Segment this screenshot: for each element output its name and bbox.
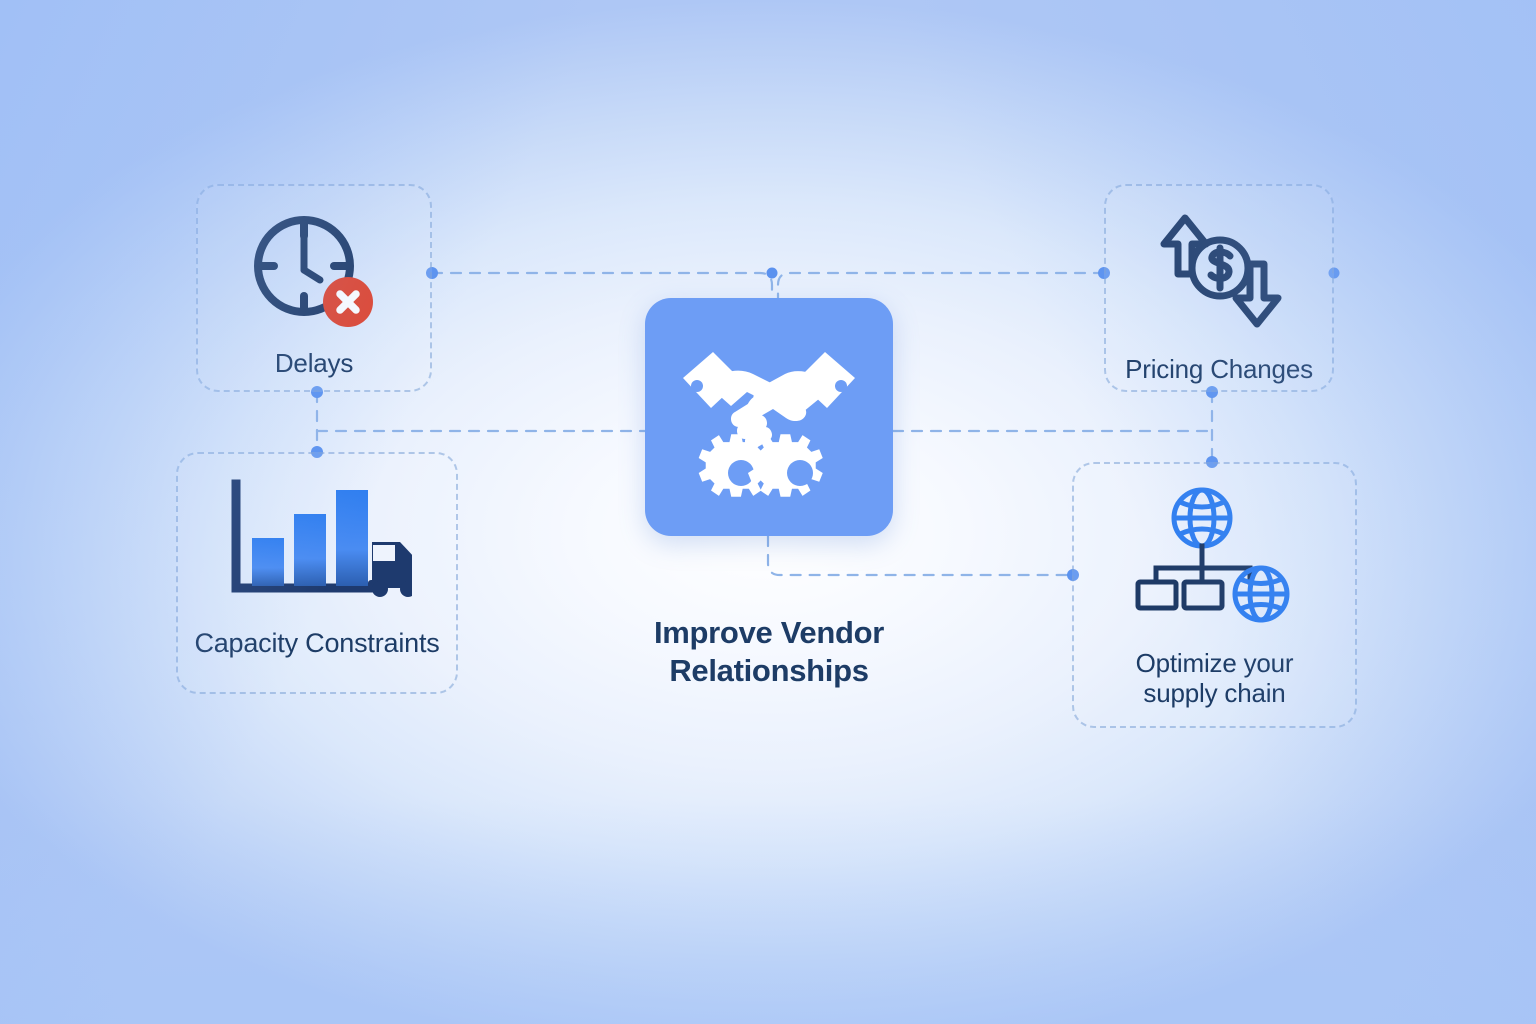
center-node-improve-vendor-relationships[interactable] bbox=[645, 298, 893, 536]
center-node-title: Improve Vendor Relationships bbox=[589, 614, 949, 690]
globe-network-icon bbox=[1130, 486, 1300, 626]
card-delays[interactable]: Delays bbox=[196, 184, 432, 392]
connector-dot-center-top bbox=[767, 268, 778, 279]
card-supply-label: Optimize your supply chain bbox=[1136, 648, 1294, 709]
center-title-line-2: Relationships bbox=[669, 653, 868, 688]
bar-chart-truck-icon bbox=[222, 476, 412, 606]
card-supply-label-line-2: supply chain bbox=[1143, 678, 1285, 708]
card-supply-label-line-1: Optimize your bbox=[1136, 648, 1294, 678]
price-arrows-dollar-icon bbox=[1144, 208, 1294, 336]
connector-pricing-to-center bbox=[778, 273, 1104, 298]
card-optimize-supply-chain[interactable]: Optimize your supply chain bbox=[1072, 462, 1357, 728]
connector-delays-to-center bbox=[432, 273, 772, 298]
clock-error-icon bbox=[244, 212, 384, 332]
card-capacity-label: Capacity Constraints bbox=[194, 628, 439, 660]
card-delays-label: Delays bbox=[275, 348, 353, 378]
card-pricing-label: Pricing Changes bbox=[1125, 354, 1313, 384]
center-title-line-1: Improve Vendor bbox=[654, 615, 884, 650]
connector-center-to-supply bbox=[768, 536, 1073, 575]
diagram-canvas: Delays bbox=[0, 0, 1536, 1024]
card-capacity-constraints[interactable]: Capacity Constraints bbox=[176, 452, 458, 694]
handshake-gears-icon bbox=[669, 324, 869, 510]
card-pricing-changes[interactable]: Pricing Changes bbox=[1104, 184, 1334, 392]
